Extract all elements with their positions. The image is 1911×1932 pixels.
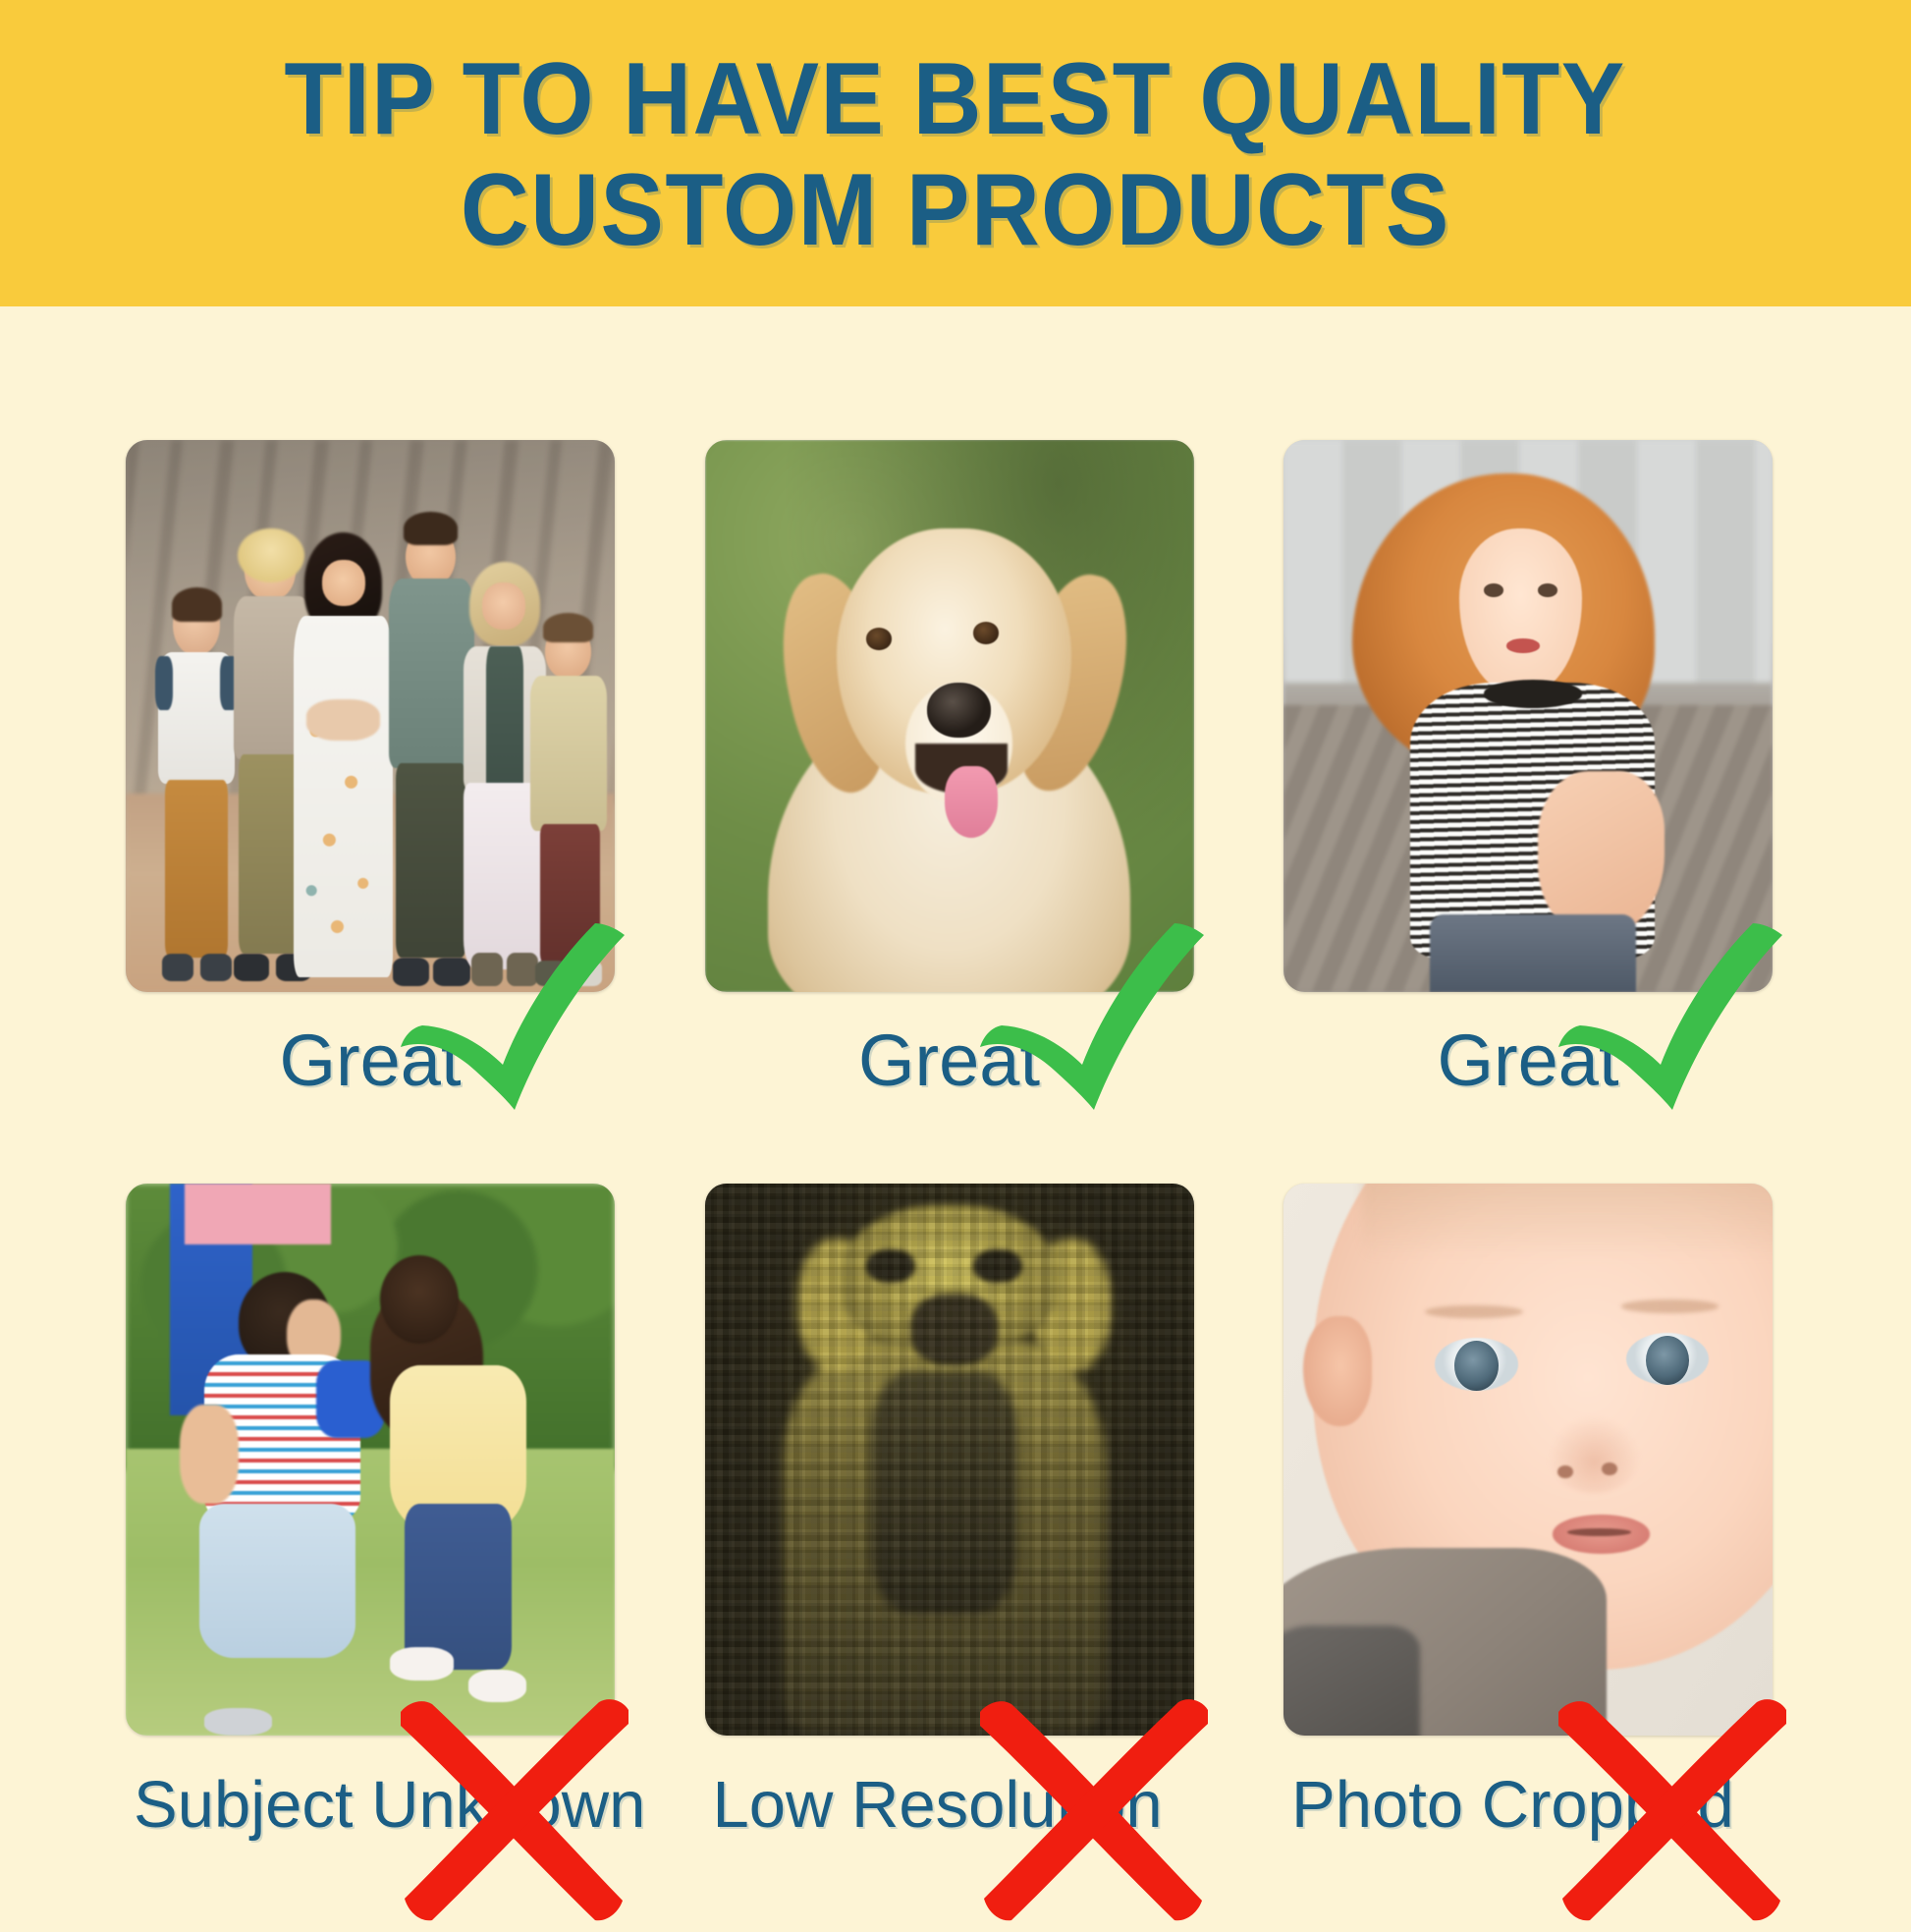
quality-label: Low Resolution xyxy=(713,1772,1163,1838)
caption-row: Great xyxy=(705,992,1194,1130)
example-cell-woman[interactable]: Great xyxy=(1283,440,1773,1130)
example-cell-family[interactable]: Great xyxy=(126,440,615,1130)
quality-label: Great xyxy=(858,1024,1040,1097)
golden-retriever-photo xyxy=(705,440,1194,992)
good-examples-row: Great Great xyxy=(126,440,1773,1130)
children-playing-photo xyxy=(126,1184,615,1736)
page-title-line-2: CUSTOM PRODUCTS xyxy=(461,155,1450,266)
caption-row: Great xyxy=(126,992,615,1130)
example-cell-dog[interactable]: Great xyxy=(705,440,1194,1130)
page-title-line-1: TIP TO HAVE BEST QUALITY xyxy=(285,44,1626,155)
red-haired-woman-photo xyxy=(1283,440,1773,992)
example-cell-lowres-dog[interactable]: Low Resolution xyxy=(705,1184,1194,1873)
caption-row: Photo Cropped xyxy=(1283,1736,1773,1873)
quality-label: Great xyxy=(1437,1024,1618,1097)
example-cell-children[interactable]: Subject Unknown xyxy=(126,1184,615,1873)
caption-row: Great xyxy=(1283,992,1773,1130)
bad-examples-row: Subject Unknown xyxy=(126,1184,1773,1873)
caption-row: Subject Unknown xyxy=(126,1736,615,1873)
example-cell-baby[interactable]: Photo Cropped xyxy=(1283,1184,1773,1873)
low-resolution-dog-photo xyxy=(705,1184,1194,1736)
quality-label: Photo Cropped xyxy=(1291,1772,1734,1838)
caption-row: Low Resolution xyxy=(705,1736,1194,1873)
header-banner: TIP TO HAVE BEST QUALITY CUSTOM PRODUCTS xyxy=(0,0,1911,306)
family-group-photo xyxy=(126,440,615,992)
cropped-baby-photo xyxy=(1283,1184,1773,1736)
examples-grid: Great Great xyxy=(126,440,1773,1873)
quality-label: Great xyxy=(279,1024,461,1097)
quality-label: Subject Unknown xyxy=(134,1772,645,1838)
